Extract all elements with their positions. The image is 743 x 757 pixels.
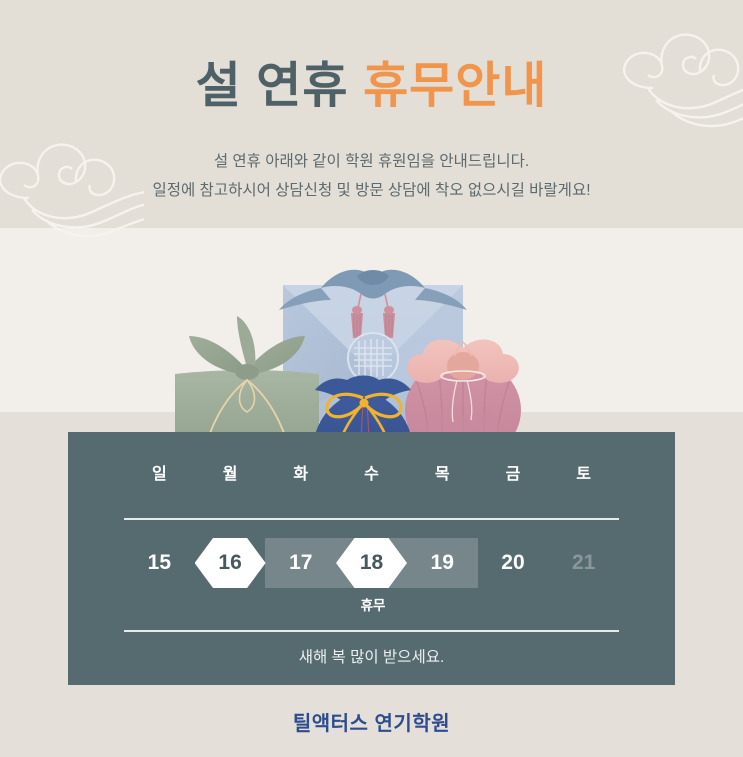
weekday-fri: 금: [478, 460, 549, 484]
subtitle-line-1: 설 연휴 아래와 같이 학원 휴원임을 안내드립니다.: [0, 148, 743, 177]
calendar-days-row: 15 16 17 18 19 20: [124, 532, 619, 594]
calendar-day-17: 17: [265, 532, 336, 594]
calendar-day-20-number: 20: [501, 551, 524, 575]
calendar-day-16-number: 16: [218, 551, 241, 575]
new-year-greeting: 새해 복 많이 받으세요.: [68, 645, 675, 667]
calendar-day-16: 16: [195, 532, 266, 594]
calendar-day-15: 15: [124, 532, 195, 594]
holiday-calendar-panel: 일 월 화 수 목 금 토 15 16 17: [68, 432, 675, 685]
page-subtitle: 설 연휴 아래와 같이 학원 휴원임을 안내드립니다. 일정에 참고하시어 상담…: [0, 148, 743, 205]
calendar-day-19-number: 19: [431, 551, 454, 575]
holiday-label: 휴무: [124, 594, 619, 614]
weekday-header-row: 일 월 화 수 목 금 토: [124, 460, 619, 484]
page-title-accent: 휴무안내: [363, 59, 547, 113]
weekday-sun: 일: [124, 460, 195, 484]
footer-brand: 틸액터스 연기학원: [0, 707, 743, 736]
subtitle-line-2: 일정에 참고하시어 상담신청 및 방문 상담에 착오 없으시길 바랄게요!: [0, 177, 743, 206]
page-title-main: 설 연휴: [196, 59, 349, 113]
calendar-day-21: 21: [548, 532, 619, 594]
calendar-day-18-number: 18: [360, 551, 383, 575]
weekday-mon: 월: [195, 460, 266, 484]
calendar-day-19: 19: [407, 532, 478, 594]
weekday-thu: 목: [407, 460, 478, 484]
weekday-sat: 토: [548, 460, 619, 484]
calendar-day-21-number: 21: [572, 551, 595, 575]
calendar-day-20: 20: [478, 532, 549, 594]
holiday-label-text: 휴무: [361, 594, 386, 614]
weekday-tue: 화: [265, 460, 336, 484]
calendar-day-17-number: 17: [289, 551, 312, 575]
page-title: 설 연휴 휴무안내: [0, 58, 743, 116]
calendar-divider-top: [124, 518, 619, 520]
calendar-divider-bottom: [124, 630, 619, 632]
calendar-day-15-number: 15: [148, 551, 171, 575]
notice-page: 설 연휴 휴무안내 설 연휴 아래와 같이 학원 휴원임을 안내드립니다. 일정…: [0, 0, 743, 757]
weekday-wed: 수: [336, 460, 407, 484]
calendar-day-18: 18: [336, 532, 407, 594]
